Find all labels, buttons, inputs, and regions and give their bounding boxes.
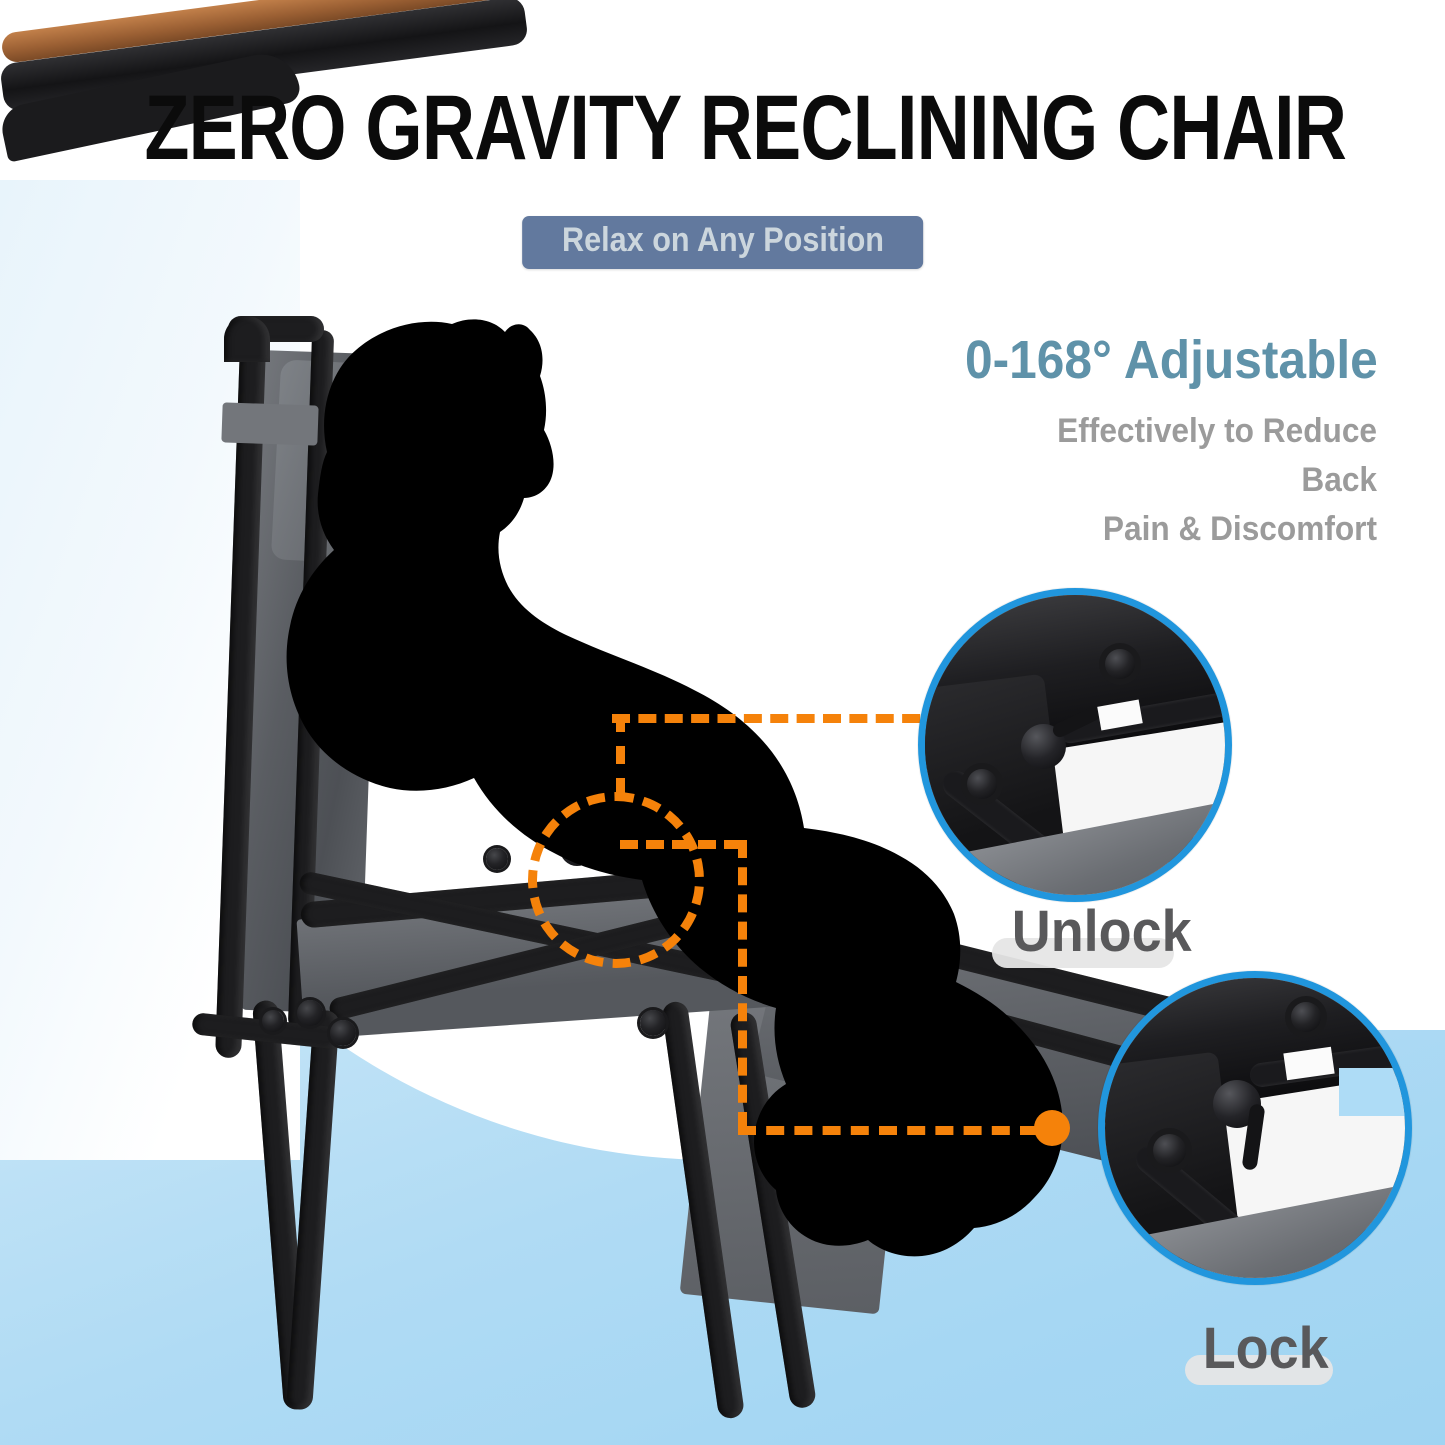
subtitle-badge: Relax on Any Position	[522, 216, 924, 269]
connector-lock-stub-horizontal	[620, 840, 742, 849]
callout-caption-lock: Lock	[1198, 1315, 1333, 1382]
callout-circle-lock[interactable]	[1098, 971, 1412, 1285]
connector-dot-lock	[1034, 1110, 1070, 1146]
chair-bolt-2	[330, 1020, 356, 1046]
callout-circle-unlock[interactable]	[918, 588, 1232, 902]
feature-block: 0-168° Adjustable Effectively to Reduce …	[947, 332, 1377, 555]
page-title: ZERO GRAVITY RECLINING CHAIR	[145, 82, 1301, 174]
chair-bolt-6	[262, 1010, 284, 1032]
chair-bolt-4	[486, 848, 508, 870]
chair-bolt-1	[297, 1000, 323, 1026]
subtitle-badge-label: Relax on Any Position	[562, 221, 884, 260]
lever-highlight-circle	[528, 792, 704, 968]
chair-back-cap	[224, 316, 270, 362]
chair-bolt-3	[640, 1010, 666, 1036]
connector-lock-horizontal	[738, 1126, 1038, 1135]
connector-lock-vertical	[738, 840, 747, 1130]
feature-subtext-line-2: Pain & Discomfort	[977, 505, 1377, 554]
feature-subtext-line-1: Effectively to Reduce Back	[977, 407, 1377, 506]
chair-bolt-5	[746, 786, 768, 808]
chair-headrest-strap	[221, 402, 318, 445]
feature-subtext: Effectively to Reduce Back Pain & Discom…	[947, 407, 1377, 555]
infographic-canvas: Unlock Lock ZERO GRAVITY RECLINING CHAIR…	[0, 0, 1445, 1445]
feature-headline: 0-168° Adjustable	[947, 332, 1377, 389]
chair-bolt-7	[783, 902, 805, 924]
connector-lever-up-stub	[616, 714, 625, 796]
callout-caption-unlock: Unlock	[1005, 898, 1198, 965]
